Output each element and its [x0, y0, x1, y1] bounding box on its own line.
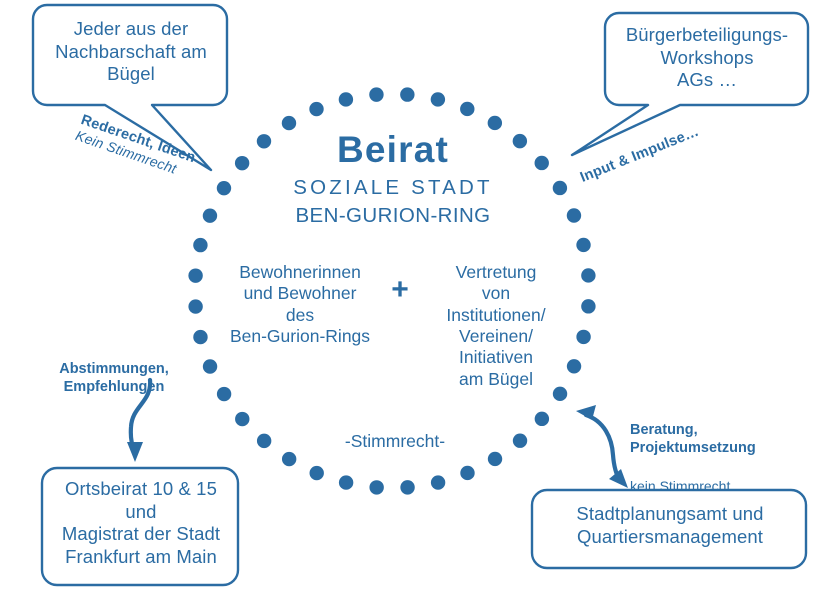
- ring-dot: [460, 466, 474, 480]
- center-title: Beirat: [248, 127, 538, 172]
- speech-bubble-top-right-label: Bürgerbeteiligungs- Workshops AGs …: [612, 24, 802, 92]
- ring-dot: [193, 238, 207, 252]
- ring-dot: [369, 87, 383, 101]
- center-subtitle-program: SOZIALE STADT: [248, 175, 538, 200]
- ring-dot: [188, 299, 202, 313]
- ring-dot: [310, 466, 324, 480]
- ring-dot: [576, 238, 590, 252]
- ring-dot: [513, 434, 527, 448]
- plus-icon: +: [380, 275, 420, 305]
- ring-dot: [235, 412, 249, 426]
- ring-dot: [431, 92, 445, 106]
- center-voting-note: -Stimmrecht-: [300, 431, 490, 452]
- ring-dot: [203, 209, 217, 223]
- ring-dot: [369, 480, 383, 494]
- ring-dot: [188, 268, 202, 282]
- ring-dot: [581, 268, 595, 282]
- ring-dot: [193, 330, 207, 344]
- arrow-beratung: [576, 405, 628, 488]
- ring-dot: [553, 181, 567, 195]
- diagram-canvas: Jeder aus der Nachbarschaft am Bügel Bür…: [0, 0, 820, 600]
- center-column-institutions: Vertretung von Institutionen/ Vereinen/ …: [420, 262, 572, 390]
- ring-dot: [581, 299, 595, 313]
- ring-dot: [431, 475, 445, 489]
- ring-dot: [400, 480, 414, 494]
- ring-dot: [488, 452, 502, 466]
- ring-dot: [339, 475, 353, 489]
- ring-dot: [576, 330, 590, 344]
- ring-dot: [460, 102, 474, 116]
- ring-dot: [400, 87, 414, 101]
- box-bottom-left-label: Ortsbeirat 10 & 15 und Magistrat der Sta…: [46, 478, 236, 568]
- ring-dot: [217, 181, 231, 195]
- ring-dot: [257, 434, 271, 448]
- ring-dot: [203, 359, 217, 373]
- center-column-residents: Bewohnerinnen und Bewohner des Ben-Gurio…: [214, 262, 386, 347]
- ring-dot: [309, 102, 323, 116]
- connector-label-bottom-right-line1: Beratung, Projektumsetzung: [630, 421, 790, 457]
- ring-dot: [535, 412, 549, 426]
- ring-dot: [567, 208, 581, 222]
- connector-label-bottom-right: Beratung, Projektumsetzung kein Stimmrec…: [630, 401, 790, 515]
- ring-dot: [217, 387, 231, 401]
- ring-dot: [282, 452, 296, 466]
- ring-dot: [339, 92, 353, 106]
- speech-bubble-top-left-label: Jeder aus der Nachbarschaft am Bügel: [40, 18, 222, 86]
- center-subtitle-location: BEN-GURION-RING: [248, 203, 538, 228]
- connector-label-bottom-left: Abstimmungen, Empfehlungen: [44, 360, 184, 396]
- connector-label-bottom-right-line2: kein Stimmrecht: [630, 477, 790, 495]
